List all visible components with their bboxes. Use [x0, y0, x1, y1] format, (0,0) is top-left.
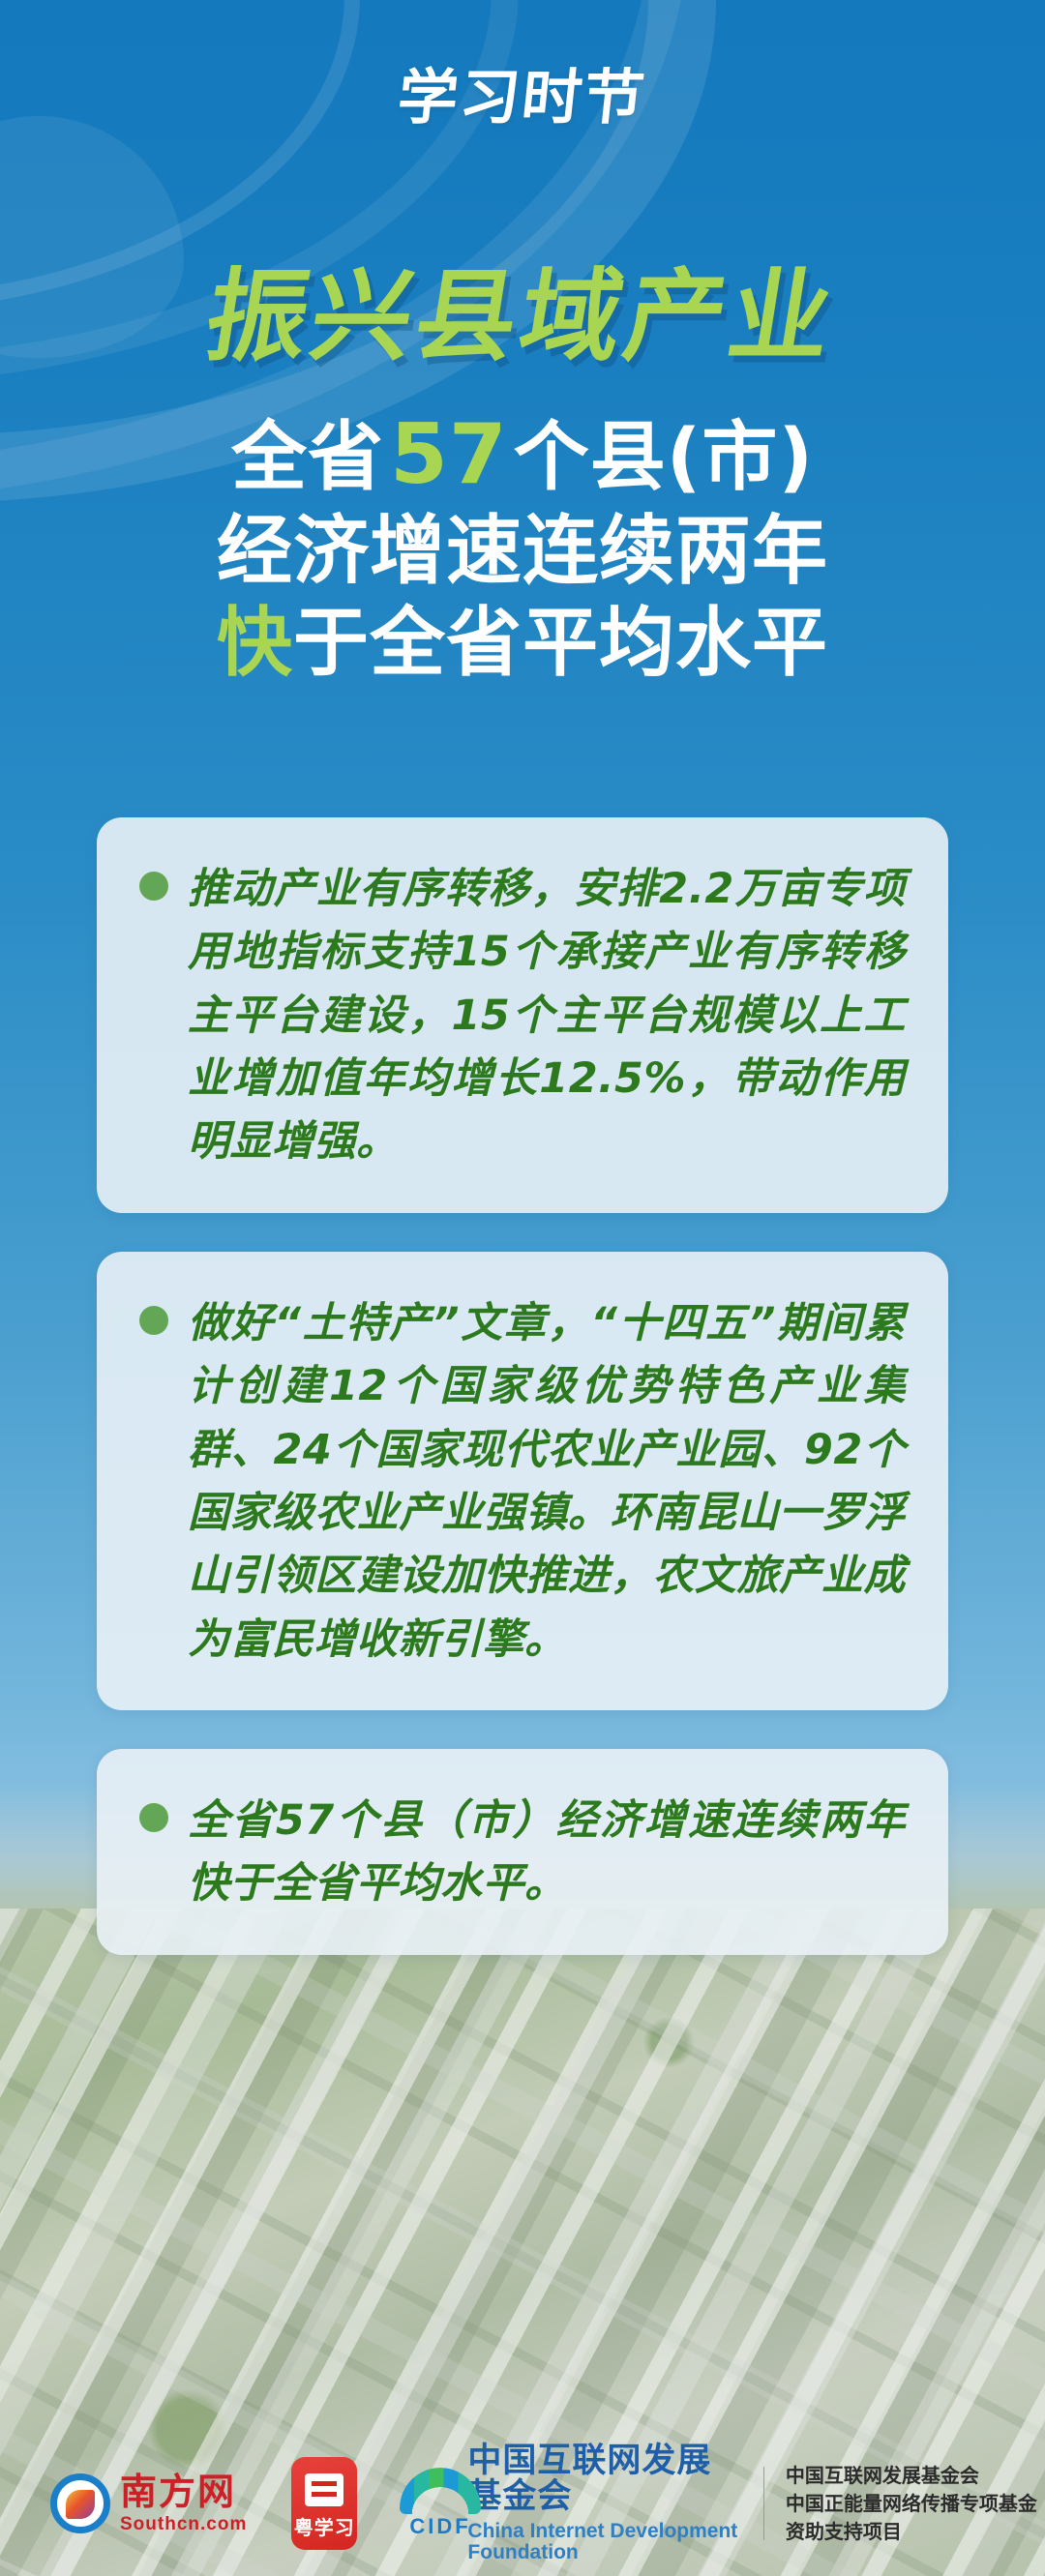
cidf-globe-icon: CIDF	[396, 2468, 458, 2539]
yue-study-logo[interactable]: 粤学习	[291, 2457, 357, 2550]
bullet-dot-icon	[139, 1306, 168, 1335]
card-body-text: 推动产业有序转移，安排2.2万亩专项用地指标支持15个承接产业有序转移主平台建设…	[188, 858, 906, 1174]
headline-block: 振兴县域产业	[0, 234, 1045, 380]
bullet-dot-icon	[139, 1803, 168, 1832]
subheadline-line3-rest: 于全省平均水平	[293, 600, 828, 687]
southcn-emblem-icon	[50, 2473, 110, 2533]
card-body-text: 全省57个县（市）经济增速连续两年快于全省平均水平。	[188, 1790, 906, 1916]
cidf-name-cn: 中国互联网发展基金会	[467, 2443, 737, 2515]
subheadline-prefix: 全省	[231, 414, 384, 501]
southcn-logo[interactable]: 南方网 Southcn.com	[50, 2473, 247, 2533]
brand-header: 学习时节	[0, 48, 1045, 135]
yue-study-label: 粤学习	[294, 2512, 355, 2540]
subheadline-block: 全省57个县(市) 经济增速连续两年 快于全省平均水平	[0, 404, 1045, 690]
subheadline-line-1: 全省57个县(市)	[0, 404, 1045, 506]
support-line-2: 中国正能量网络传播专项基金资助支持项目	[786, 2490, 1045, 2546]
page-title: 振兴县域产业	[197, 234, 848, 380]
content-card: 全省57个县（市）经济增速连续两年快于全省平均水平。	[97, 1749, 948, 1955]
subheadline-suffix: 个县(市)	[514, 414, 814, 501]
content-card: 推动产业有序转移，安排2.2万亩专项用地指标支持15个承接产业有序转移主平台建设…	[97, 817, 948, 1213]
southcn-name-en: Southcn.com	[120, 2515, 247, 2533]
subheadline-line-2: 经济增速连续两年	[0, 506, 1045, 598]
content-card-list: 推动产业有序转移，安排2.2万亩专项用地指标支持15个承接产业有序转移主平台建设…	[0, 817, 1045, 1994]
southcn-name-cn: 南方网	[120, 2473, 247, 2510]
brand-logo-text: 学习时节	[394, 48, 650, 135]
yue-book-icon	[305, 2473, 343, 2506]
infographic-poster: 学习时节 振兴县域产业 全省57个县(市) 经济增速连续两年 快于全省平均水平 …	[0, 0, 1045, 2576]
bullet-dot-icon	[139, 872, 168, 901]
cidf-abbreviation: CIDF	[396, 2514, 485, 2539]
subheadline-line-3: 快于全省平均水平	[0, 598, 1045, 690]
card-body-text: 做好“土特产”文章，“十四五”期间累计创建12个国家级优势特色产业集群、24个国…	[188, 1292, 906, 1672]
support-line-1: 中国互联网发展基金会	[786, 2462, 1045, 2490]
county-count-number: 57	[384, 406, 514, 503]
footer-divider	[763, 2467, 764, 2540]
cidf-logo[interactable]: CIDF 中国互联网发展基金会 China Internet Developme…	[396, 2443, 737, 2563]
cidf-name-en: China Internet Development Foundation	[467, 2521, 737, 2563]
subheadline-highlight: 快	[217, 600, 293, 687]
footer-logo-bar: 南方网 Southcn.com 粤学习 CIDF 中国互联网发展基金会 Chin…	[0, 2431, 1045, 2576]
footer-support-note: 中国互联网发展基金会 中国正能量网络传播专项基金资助支持项目	[786, 2462, 1045, 2546]
content-card: 做好“土特产”文章，“十四五”期间累计创建12个国家级优势特色产业集群、24个国…	[97, 1252, 948, 1710]
